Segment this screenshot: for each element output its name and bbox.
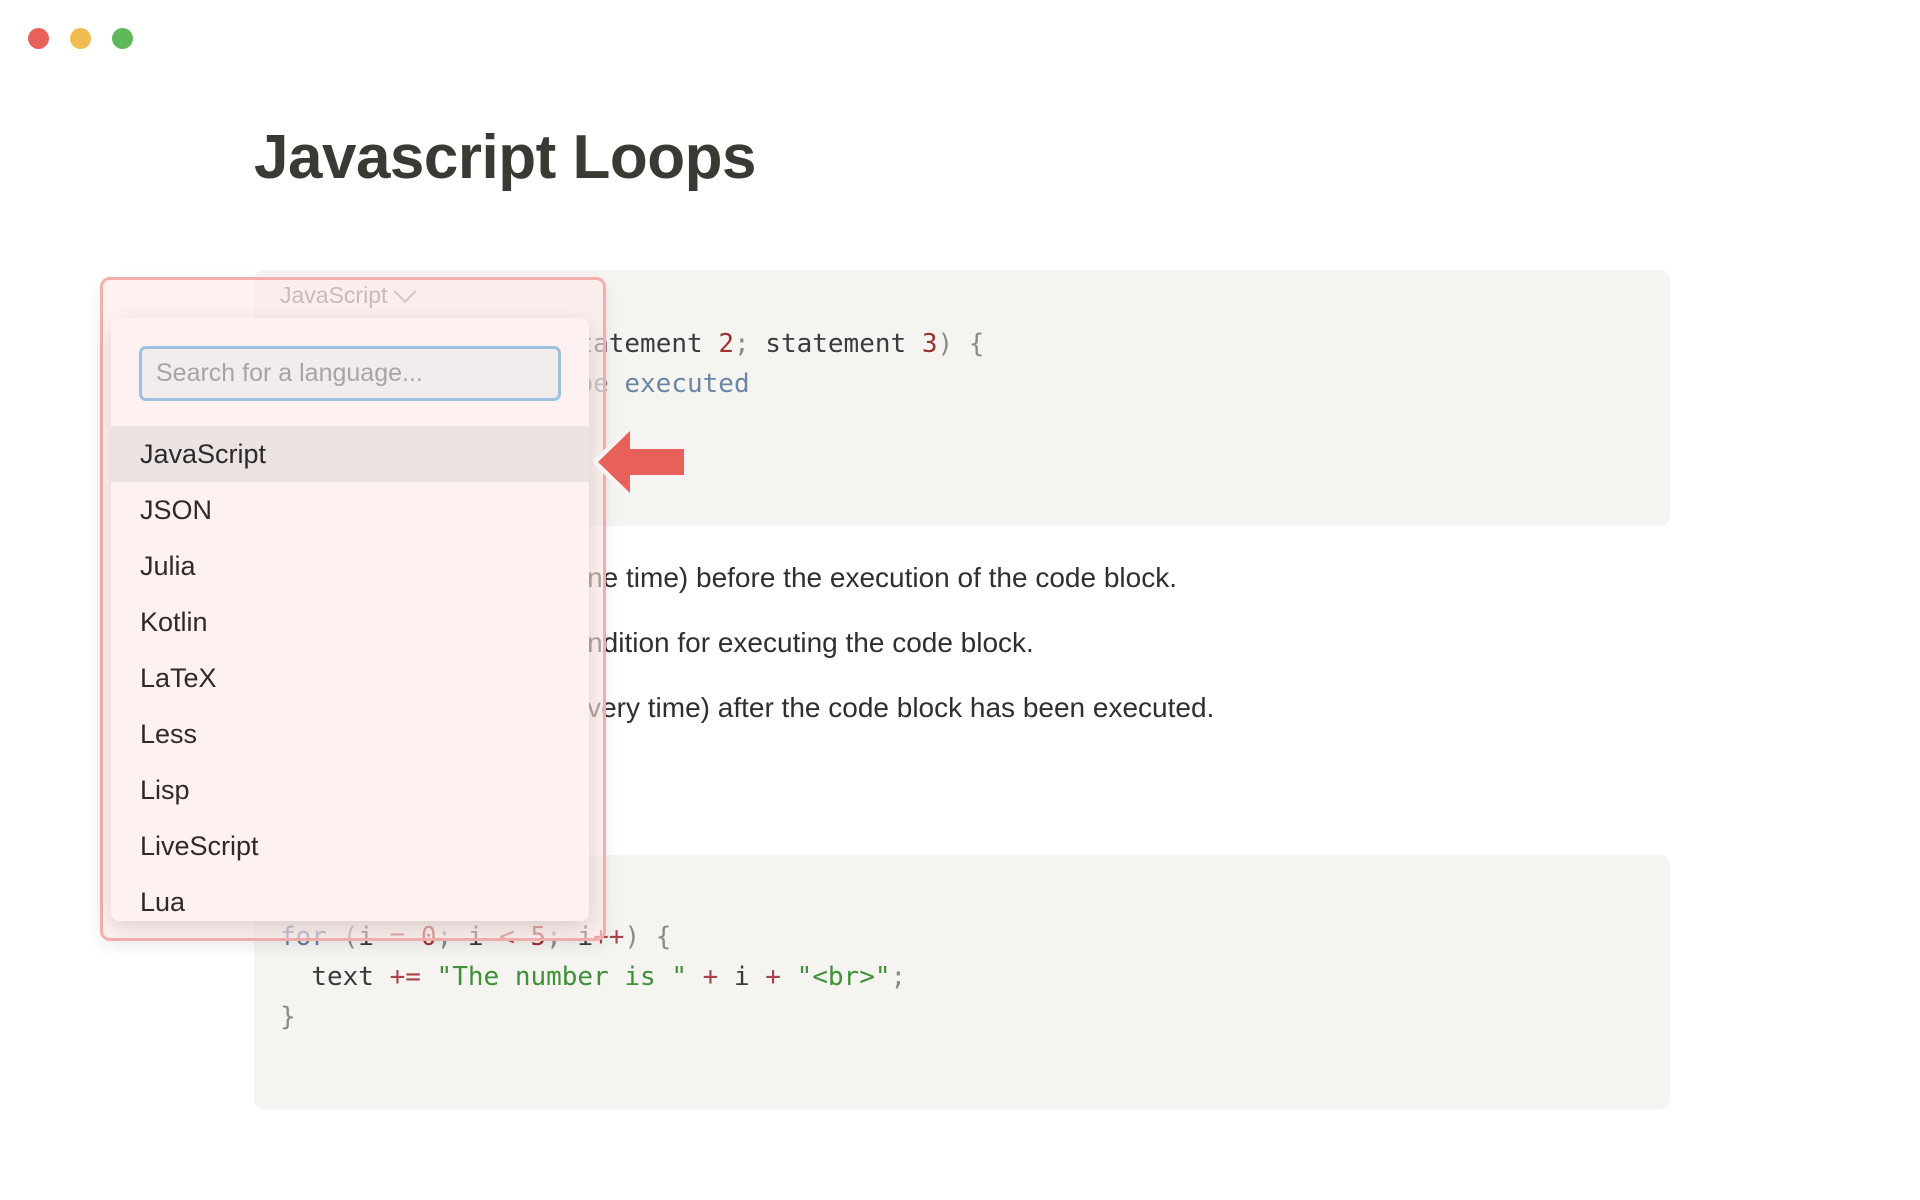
language-option-less[interactable]: Less — [111, 706, 589, 762]
language-option-json[interactable]: JSON — [111, 482, 589, 538]
language-option-lua[interactable]: Lua — [111, 874, 589, 921]
language-option-livescript[interactable]: LiveScript — [111, 818, 589, 874]
app-window: Javascript Loops JavaScript for (stateme… — [0, 0, 1920, 1200]
language-option-lisp[interactable]: Lisp — [111, 762, 589, 818]
language-dropdown-popover: JavaScript JSON Julia Kotlin LaTeX Less … — [111, 318, 589, 921]
arrow-left-icon — [592, 427, 692, 497]
language-search-input[interactable] — [139, 346, 561, 401]
language-option-javascript[interactable]: JavaScript — [111, 426, 589, 482]
language-option-latex[interactable]: LaTeX — [111, 650, 589, 706]
language-option-julia[interactable]: Julia — [111, 538, 589, 594]
language-option-list: JavaScript JSON Julia Kotlin LaTeX Less … — [111, 426, 589, 921]
language-search-wrapper — [139, 346, 561, 401]
language-option-kotlin[interactable]: Kotlin — [111, 594, 589, 650]
page-title: Javascript Loops — [254, 122, 756, 193]
annotation-arrow-left — [592, 427, 692, 497]
